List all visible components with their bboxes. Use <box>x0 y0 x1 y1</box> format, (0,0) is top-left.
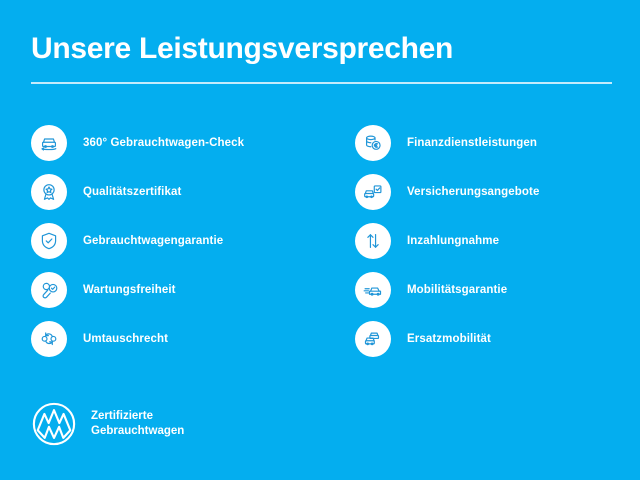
page-title: Unsere Leistungsversprechen <box>31 32 453 66</box>
list-item[interactable]: Qualitätszertifikat <box>31 167 331 216</box>
list-item-label: Wartungsfreiheit <box>83 284 176 296</box>
shield-check-icon <box>31 223 67 259</box>
benefits-columns: 360° Gebrauchtwagen-Check Qualitätszerti… <box>0 118 640 368</box>
list-item-label: Qualitätszertifikat <box>83 186 181 198</box>
car-360-check-icon <box>31 125 67 161</box>
list-item-label: Ersatzmobilität <box>407 333 491 345</box>
wrench-check-icon <box>31 272 67 308</box>
arrows-up-down-icon <box>355 223 391 259</box>
list-item[interactable]: Gebrauchtwagengarantie <box>31 216 331 265</box>
promise-panel: Unsere Leistungsversprechen 360° Gebrauc… <box>0 0 640 480</box>
list-item[interactable]: Finanzdienstleistungen <box>355 118 640 167</box>
footer-brand: Zertifizierte Gebrauchtwagen <box>31 401 184 447</box>
list-item[interactable]: Wartungsfreiheit <box>31 265 331 314</box>
list-item[interactable]: Versicherungsangebote <box>355 167 640 216</box>
list-item-label: 360° Gebrauchtwagen-Check <box>83 137 244 149</box>
list-item[interactable]: Ersatzmobilität <box>355 314 640 363</box>
title-divider <box>31 82 612 84</box>
list-item[interactable]: 360° Gebrauchtwagen-Check <box>31 118 331 167</box>
list-item-label: Inzahlungnahme <box>407 235 499 247</box>
exchange-arrows-icon <box>31 321 67 357</box>
two-cars-icon <box>355 321 391 357</box>
benefits-column-left: 360° Gebrauchtwagen-Check Qualitätszerti… <box>31 118 331 363</box>
list-item[interactable]: Inzahlungnahme <box>355 216 640 265</box>
list-item-label: Mobilitätsgarantie <box>407 284 507 296</box>
list-item-label: Finanzdienstleistungen <box>407 137 537 149</box>
car-motion-icon <box>355 272 391 308</box>
footer-line-1: Zertifizierte <box>91 409 184 424</box>
list-item-label: Gebrauchtwagengarantie <box>83 235 223 247</box>
footer-text: Zertifizierte Gebrauchtwagen <box>91 409 184 439</box>
footer-line-2: Gebrauchtwagen <box>91 424 184 439</box>
benefits-column-right: Finanzdienstleistungen Versicherungsange… <box>355 118 640 363</box>
vw-logo-icon <box>31 401 77 447</box>
list-item[interactable]: Umtauschrecht <box>31 314 331 363</box>
list-item-label: Umtauschrecht <box>83 333 168 345</box>
car-document-check-icon <box>355 174 391 210</box>
list-item-label: Versicherungsangebote <box>407 186 539 198</box>
list-item[interactable]: Mobilitätsgarantie <box>355 265 640 314</box>
award-rosette-icon <box>31 174 67 210</box>
coins-euro-icon <box>355 125 391 161</box>
